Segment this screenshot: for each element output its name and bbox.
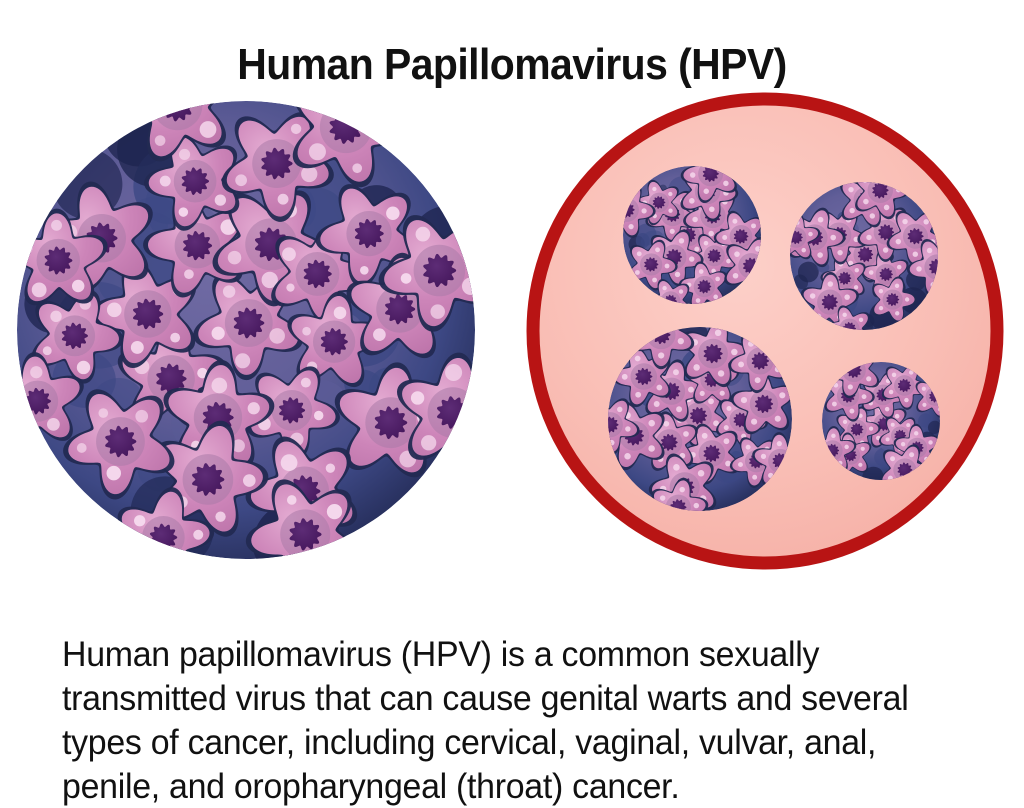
virus-particle-magnified: [0, 84, 512, 584]
page-title: Human Papillomavirus (HPV): [36, 43, 988, 87]
hpv-illustration-svg: [0, 84, 1024, 584]
host-cell-body: [533, 99, 997, 563]
infected-cell: [533, 99, 997, 563]
caption-text: Human papillomavirus (HPV) is a common s…: [62, 632, 931, 808]
illustration-area: [0, 84, 1024, 584]
virus-particle-magnified: [0, 84, 512, 584]
caption-line: transmitted virus that can cause genital…: [62, 676, 931, 720]
hpv-infographic: Human Papillomavirus (HPV): [0, 0, 1024, 797]
caption-line: types of cancer, including cervical, vag…: [62, 720, 931, 764]
caption-line: Human papillomavirus (HPV) is a common s…: [62, 632, 931, 676]
caption-line: penile, and oropharyngeal (throat) cance…: [62, 764, 931, 808]
